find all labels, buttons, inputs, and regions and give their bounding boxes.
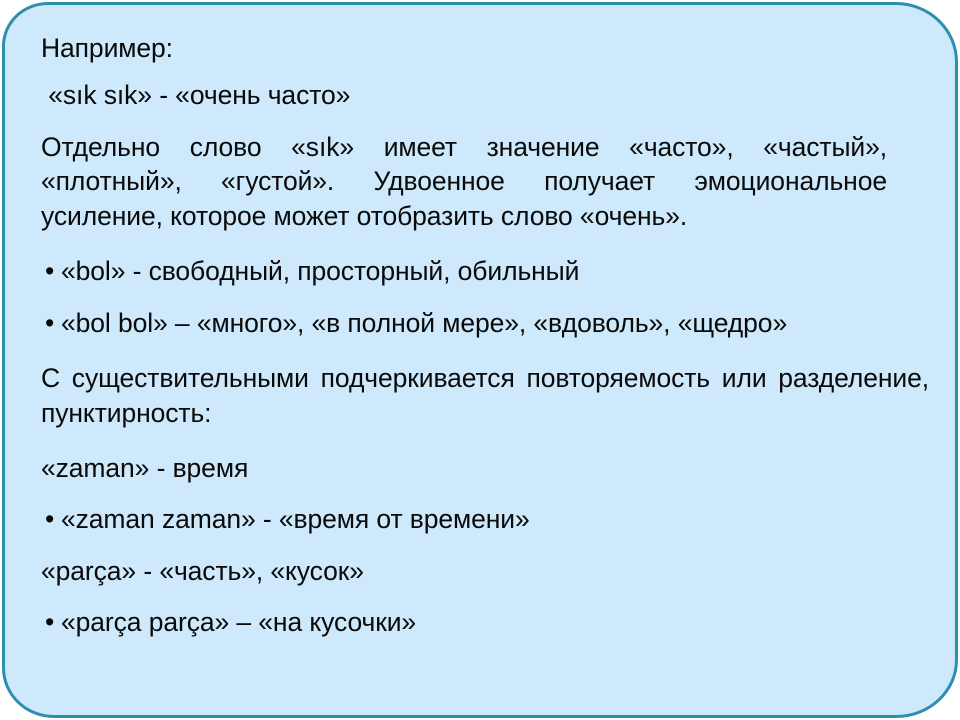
intro-label: Например: [41,31,925,65]
paragraph-nouns-explanation: С существительными подчеркивается повтор… [41,361,929,430]
example-zaman-line: «zaman» - время [41,451,925,485]
list-item-zaman-double: • «zaman zaman» - «время от времени» [41,502,925,536]
bullet-marker-icon: • [41,605,61,639]
bullet-marker-icon: • [41,502,61,536]
example-parca-line: «parça» - «часть», «кусок» [41,554,925,588]
list-item-label: «bol bol» – «много», «в полной мере», «в… [61,306,881,340]
slide-text-body: Например: «sık sık» - «очень часто» Отде… [5,5,958,649]
list-item-bol-single: • «bol» - свободный, просторный, обильны… [41,254,925,288]
bullet-marker-icon: • [41,306,61,340]
rounded-content-panel: Например: «sık sık» - «очень часто» Отде… [2,2,958,718]
list-item-label: «parça parça» – «на кусочки» [61,605,907,639]
list-item-label: «zaman zaman» - «время от времени» [61,502,907,536]
example-sik-line: «sık sık» - «очень часто» [41,78,925,112]
bullet-marker-icon: • [41,254,61,288]
list-item-parca-double: • «parça parça» – «на кусочки» [41,605,925,639]
list-item-bol-double: • «bol bol» – «много», «в полной мере», … [41,306,925,340]
slide-canvas: Например: «sık sık» - «очень часто» Отде… [0,0,960,720]
list-item-label: «bol» - свободный, просторный, обильный [61,254,881,288]
paragraph-sik-explanation: Отдельно слово «sık» имеет значение «час… [41,130,887,233]
